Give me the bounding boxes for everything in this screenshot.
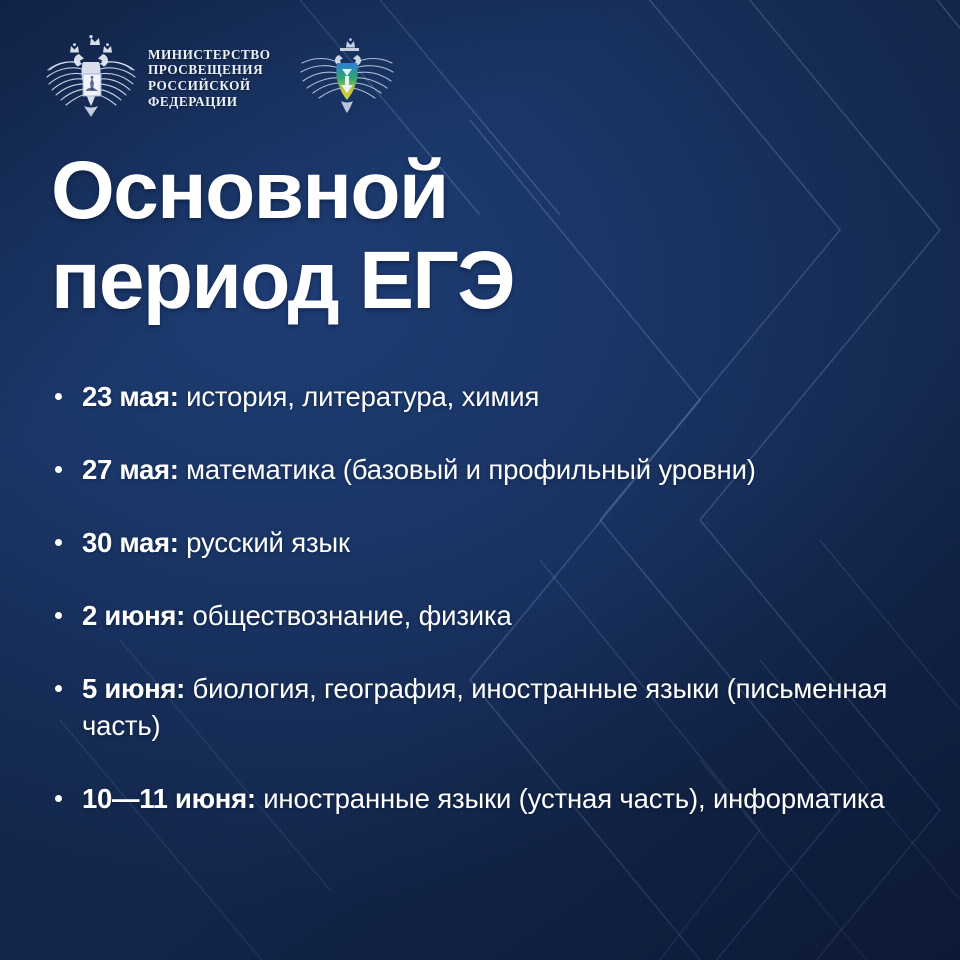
list-item: 27 мая: математика (базовый и профильный…	[50, 451, 930, 488]
bullet-icon	[55, 795, 62, 802]
exam-date: 10—11 июня:	[82, 783, 256, 814]
exam-subjects: история, литература, химия	[186, 381, 539, 412]
list-item: 10—11 июня: иностранные языки (устная ча…	[50, 780, 930, 817]
rosobrnadzor-eagle-emblem-icon	[295, 35, 399, 121]
list-item: 2 июня: обществознание, физика	[50, 597, 930, 634]
bullet-icon	[55, 393, 62, 400]
page-title-line-2: период ЕГЭ	[51, 236, 911, 326]
exam-schedule-list: 23 мая: история, литература, химия 27 ма…	[50, 378, 930, 817]
list-item: 23 мая: история, литература, химия	[50, 378, 930, 415]
page-title-line-1: Основной	[51, 146, 911, 236]
exam-date: 2 июня:	[82, 600, 185, 631]
bullet-icon	[55, 466, 62, 473]
ministry-name-line-2: ПРОСВЕЩЕНИЯ	[148, 62, 271, 78]
exam-date: 5 июня:	[82, 673, 185, 704]
page-title: Основной период ЕГЭ	[51, 146, 911, 326]
exam-subjects: иностранные языки (устная часть), информ…	[263, 783, 884, 814]
russian-double-headed-eagle-icon	[38, 34, 144, 122]
ministry-name-line-4: ФЕДЕРАЦИИ	[148, 94, 271, 110]
poster-header: МИНИСТЕРСТВО ПРОСВЕЩЕНИЯ РОССИЙСКОЙ ФЕДЕ…	[38, 34, 399, 122]
exam-date: 30 мая:	[82, 527, 179, 558]
exam-subjects: математика (базовый и профильный уровни)	[186, 454, 756, 485]
exam-subjects: русский язык	[186, 527, 350, 558]
exam-date: 27 мая:	[82, 454, 179, 485]
bullet-icon	[55, 612, 62, 619]
list-item: 30 мая: русский язык	[50, 524, 930, 561]
list-item: 5 июня: биология, география, иностранные…	[50, 670, 930, 744]
exam-subjects: биология, география, иностранные языки (…	[82, 673, 887, 741]
ministry-name-line-3: РОССИЙСКОЙ	[148, 78, 271, 94]
exam-schedule-poster: МИНИСТЕРСТВО ПРОСВЕЩЕНИЯ РОССИЙСКОЙ ФЕДЕ…	[0, 0, 960, 960]
ministry-name: МИНИСТЕРСТВО ПРОСВЕЩЕНИЯ РОССИЙСКОЙ ФЕДЕ…	[148, 47, 271, 109]
bullet-icon	[55, 685, 62, 692]
exam-date: 23 мая:	[82, 381, 179, 412]
exam-subjects: обществознание, физика	[193, 600, 512, 631]
bullet-icon	[55, 539, 62, 546]
ministry-name-line-1: МИНИСТЕРСТВО	[148, 47, 271, 63]
